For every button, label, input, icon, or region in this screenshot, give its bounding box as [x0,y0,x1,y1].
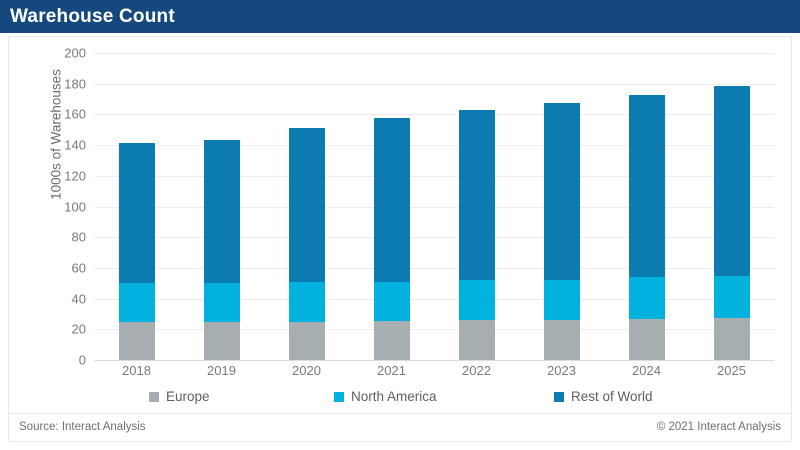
x-axis-tick-label: 2025 [692,364,772,377]
y-axis-tick-label: 20 [30,323,86,336]
x-axis-tick-label: 2021 [352,364,432,377]
y-axis-tick-label: 140 [30,139,86,152]
legend-swatch-icon [149,392,159,402]
bar-segment[interactable] [714,276,750,318]
bar-segment[interactable] [204,283,240,322]
bar-stack[interactable] [544,103,580,360]
bar-stack[interactable] [119,143,155,360]
bar-stack[interactable] [289,128,325,360]
legend-label: Europe [166,389,210,404]
legend-swatch-icon [554,392,564,402]
bar-stack[interactable] [459,110,495,360]
bar-segment[interactable] [119,143,155,283]
legend-swatch-icon [334,392,344,402]
plot-area: 020406080100120140160180200 201820192020… [94,53,774,360]
bar-segment[interactable] [119,283,155,322]
y-axis-tick-label: 180 [30,77,86,90]
copyright-label: © 2021 Interact Analysis [657,421,781,433]
y-axis-tick-label: 120 [30,169,86,182]
page-title: Warehouse Count [0,7,175,26]
bar-segment[interactable] [204,140,240,284]
x-axis-tick-label: 2018 [97,364,177,377]
bar-segment[interactable] [629,95,665,277]
legend-item[interactable]: Europe [149,389,210,404]
bar-segment[interactable] [289,282,325,321]
bar-segment[interactable] [544,280,580,320]
x-axis-tick-label: 2020 [267,364,347,377]
gridline [94,360,774,361]
x-axis-tick-label: 2023 [522,364,602,377]
bar-segment[interactable] [374,321,410,360]
bar-stack[interactable] [714,86,750,360]
y-axis-tick-label: 100 [30,200,86,213]
bar-segment[interactable] [459,280,495,320]
x-axis-tick-label: 2019 [182,364,262,377]
bar-stack[interactable] [204,140,240,360]
chart-legend: EuropeNorth AmericaRest of World [94,389,774,409]
bar-stack[interactable] [629,95,665,360]
title-bar: Warehouse Count [0,0,800,33]
bar-segment[interactable] [544,320,580,360]
bar-segment[interactable] [459,320,495,360]
bar-segment[interactable] [629,277,665,318]
y-axis-tick-label: 160 [30,108,86,121]
legend-label: Rest of World [571,389,653,404]
bar-segment[interactable] [289,128,325,282]
y-axis-tick-label: 200 [30,47,86,60]
y-axis-tick-label: 40 [30,292,86,305]
bar-series [94,53,774,360]
bar-stack[interactable] [374,118,410,360]
bottom-strip [0,442,800,450]
y-axis-tick-label: 0 [30,354,86,367]
bar-segment[interactable] [629,319,665,360]
x-axis-tick-label: 2024 [607,364,687,377]
chart-screenshot: Warehouse Count 1000s of Warehouses 0204… [0,0,800,450]
legend-label: North America [351,389,437,404]
y-axis-tick-label: 80 [30,231,86,244]
bar-segment[interactable] [119,322,155,360]
bar-segment[interactable] [714,318,750,360]
bar-segment[interactable] [714,86,750,276]
footer-bar: Source: Interact Analysis © 2021 Interac… [8,414,792,442]
bar-segment[interactable] [544,103,580,280]
bar-segment[interactable] [289,322,325,360]
legend-item[interactable]: Rest of World [554,389,653,404]
bar-segment[interactable] [204,322,240,360]
bar-segment[interactable] [374,282,410,321]
chart-container: 1000s of Warehouses 02040608010012014016… [8,36,792,414]
source-label: Source: Interact Analysis [19,421,146,433]
bar-segment[interactable] [459,110,495,280]
x-axis-tick-label: 2022 [437,364,517,377]
legend-item[interactable]: North America [334,389,437,404]
y-axis-tick-label: 60 [30,261,86,274]
bar-segment[interactable] [374,118,410,281]
